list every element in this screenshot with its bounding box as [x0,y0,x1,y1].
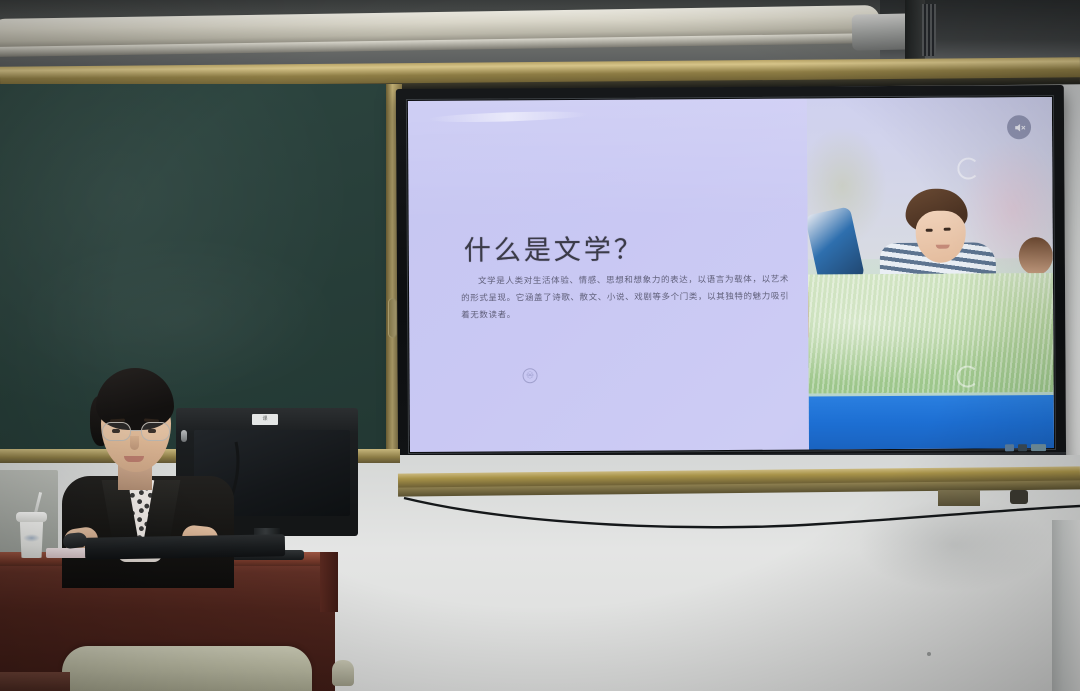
display-power-cable [400,492,1080,536]
monitor-sticker: 课 [252,414,278,425]
status-indicator-1 [1005,444,1014,451]
photo-second-student-head [1019,237,1053,275]
photo-swirl-icon-lower [957,365,979,387]
display-panel: 什么是文学？ 文学是人类对生活体验、情感、思想和想象力的表达，以语言为载体，以艺… [406,95,1056,454]
chair-armrest [332,660,354,686]
status-indicator-3 [1031,444,1046,451]
floor [0,672,70,691]
wall-corner-right [1052,520,1080,691]
interactive-display[interactable]: 什么是文学？ 文学是人类对生活体验、情感、思想和想象力的表达，以语言为载体，以艺… [396,85,1066,481]
status-indicator-2 [1018,444,1027,451]
slide-photo [807,97,1054,449]
circle-swirl-icon: ♾ [523,368,538,383]
photo-swirl-icon [957,157,979,179]
speaker-mute-icon[interactable] [1007,115,1031,139]
paper-cup-label [23,534,40,542]
eyeglass-lens-left [102,422,131,441]
monitor-sticker-label: 课 [252,414,278,425]
eyeglass-lens-right [141,422,170,441]
keyboard[interactable] [85,534,285,559]
teacher-hair [96,368,174,430]
slide-accent-bar [809,395,1054,449]
podium-right-edge [320,552,338,612]
desk-papers[interactable] [46,548,88,558]
ceiling-cable-bundle [922,4,936,56]
slide-body-text: 文学是人类对生活体验、情感、思想和想象力的表达，以语言为载体，以艺术的形式呈现。… [461,271,789,324]
display-status-indicators [1005,444,1046,451]
paper-cup[interactable] [16,506,47,558]
eyeglass-bridge [131,430,141,431]
presentation-slide: 什么是文学？ 文学是人类对生活体验、情感、思想和想象力的表达，以语言为载体，以艺… [408,97,1054,452]
photo-student-eye-left [926,229,933,232]
chair-backrest[interactable] [62,646,312,691]
chalkboard-latch[interactable] [388,298,397,338]
teacher-mouth [124,456,144,462]
classroom-scene: 什么是文学？ 文学是人类对生活体验、情感、思想和想象力的表达，以语言为载体，以艺… [0,0,1080,691]
wall-screw [927,652,931,656]
slide-title: 什么是文学？ [464,228,644,268]
projection-screen-end-cap [852,13,913,50]
teacher-nose [130,436,139,450]
photo-student-eye-right [944,228,951,231]
photo-grass [808,273,1054,394]
paper-cup-lid [16,512,47,522]
